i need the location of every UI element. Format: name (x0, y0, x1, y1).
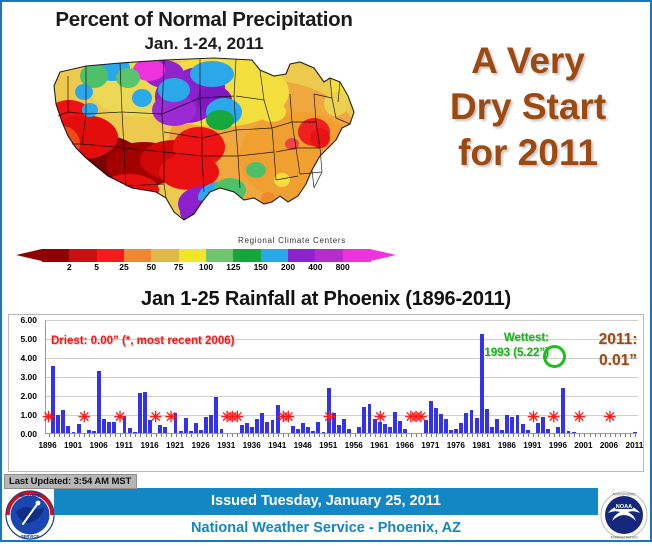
colorbar-segment (233, 249, 261, 262)
x-axis-tick (79, 434, 80, 437)
x-axis-tick (498, 434, 499, 437)
x-axis-tick (64, 434, 65, 437)
annotation-current-year: 2011: 0.01” (589, 329, 647, 371)
x-axis-label: 1981 (472, 441, 490, 450)
chart-bar (567, 431, 571, 433)
chart-bar (490, 427, 494, 433)
x-axis-label: 2006 (600, 441, 618, 450)
precipitation-map-panel: Percent of Normal Precipitation Jan. 1-2… (6, 4, 402, 282)
annotation-driest: Driest: 0.00” (*, most recent 2006) (51, 335, 234, 347)
nws-logo-svg: WEATHER SERVICE (4, 488, 56, 542)
nws-logo: WEATHER SERVICE (4, 488, 56, 542)
chart-bar (220, 429, 224, 433)
x-axis-tick (549, 434, 550, 437)
wettest-highlight-circle (543, 345, 566, 368)
chart-bar (179, 431, 183, 433)
chart-bar (342, 419, 346, 433)
svg-text:NOAA: NOAA (616, 504, 632, 510)
x-axis-tick (436, 434, 437, 437)
noaa-logo-svg: NOAA ATMOSPHERIC ADMINISTRATION (598, 488, 650, 542)
x-axis-tick (564, 434, 565, 437)
chart-bar (561, 388, 565, 433)
chart-bar (541, 417, 545, 433)
colorbar-segment (42, 249, 70, 262)
annotation-wettest-line2: 1993 (5.22”) (437, 346, 549, 361)
x-axis-label: 1896 (38, 441, 56, 450)
x-axis-tick (74, 434, 75, 437)
x-axis-label: 1936 (243, 441, 261, 450)
chart-bar (403, 429, 407, 433)
colorbar-right-tip (370, 249, 396, 261)
x-axis-tick (176, 434, 177, 437)
chart-bar (485, 409, 489, 433)
colorbar-left-tip (16, 249, 42, 261)
y-axis-label: 6.00 (3, 315, 37, 325)
colorbar-segment (124, 249, 152, 262)
x-axis-tick (237, 434, 238, 437)
footer: WEATHER SERVICE Issued Tuesday, January … (2, 488, 650, 542)
x-axis-tick (314, 434, 315, 437)
x-axis-tick (406, 434, 407, 437)
x-axis-tick (493, 434, 494, 437)
chart-bar (572, 432, 576, 433)
chart-bar (291, 426, 295, 433)
x-axis-tick (125, 434, 126, 437)
chart-bar (265, 422, 269, 433)
y-axis-label: 1.00 (3, 410, 37, 420)
x-axis-tick (390, 434, 391, 437)
x-axis-tick (579, 434, 580, 437)
driest-year-marker: ✳ (231, 410, 244, 425)
x-axis-tick (462, 434, 463, 437)
chart-bar (393, 412, 397, 433)
chart-bar (133, 432, 137, 433)
x-axis-tick (222, 434, 223, 437)
chart-bar (556, 427, 560, 433)
chart-bar (296, 429, 300, 433)
x-axis-tick (401, 434, 402, 437)
chart-bar (398, 421, 402, 433)
driest-year-marker: ✳ (374, 410, 387, 425)
x-axis-tick (574, 434, 575, 437)
chart-bar (163, 427, 167, 433)
top-section: Percent of Normal Precipitation Jan. 1-2… (2, 2, 650, 284)
x-axis-tick (105, 434, 106, 437)
colorbar-segment (151, 249, 179, 262)
colorbar-tick: 50 (147, 262, 156, 272)
x-axis-tick (161, 434, 162, 437)
chart-bar (301, 423, 305, 433)
colorbar-segment (288, 249, 316, 262)
chart-bar (337, 425, 341, 433)
chart-bar (56, 415, 60, 433)
x-axis-tick (69, 434, 70, 437)
x-axis-tick (324, 434, 325, 437)
x-axis-label: 1976 (447, 441, 465, 450)
colorbar-tick: 800 (336, 262, 350, 272)
driest-year-marker: ✳ (573, 410, 586, 425)
x-axis-tick (191, 434, 192, 437)
driest-year-marker: ✳ (415, 410, 428, 425)
x-axis-tick (431, 434, 432, 437)
chart-bar (357, 427, 361, 433)
chart-bar (311, 431, 315, 433)
chart-bar (260, 413, 264, 433)
chart-bar (61, 410, 65, 433)
chart-bar (204, 417, 208, 433)
x-axis-tick (227, 434, 228, 437)
chart-bar (143, 392, 147, 433)
x-axis-label: 1966 (396, 441, 414, 450)
y-axis-label: 5.00 (3, 334, 37, 344)
chart-bar (475, 418, 479, 433)
x-axis-tick (253, 434, 254, 437)
x-axis-tick (421, 434, 422, 437)
x-axis-label: 1996 (549, 441, 567, 450)
colorbar-tick-labels: 25255075100125150200400800 (16, 262, 396, 276)
x-axis-tick (375, 434, 376, 437)
colorbar-tick: 25 (119, 262, 128, 272)
chart-bar (439, 414, 443, 433)
chart-bar (495, 419, 499, 433)
chart-bar (240, 425, 244, 433)
map-colorbar: Regional Climate Centers 252550751001251… (16, 236, 396, 278)
chart-bar (500, 430, 504, 433)
x-axis-tick (120, 434, 121, 437)
x-axis-tick (181, 434, 182, 437)
map-subtitle: Jan. 1-24, 2011 (6, 34, 402, 54)
x-axis-tick (268, 434, 269, 437)
chart-bar (209, 415, 213, 433)
x-axis-tick (100, 434, 101, 437)
x-axis-label: 1901 (64, 441, 82, 450)
x-axis-tick (467, 434, 468, 437)
colorbar-tick: 400 (308, 262, 322, 272)
colorbar-segment (261, 249, 289, 262)
x-axis-tick (523, 434, 524, 437)
x-axis-tick (186, 434, 187, 437)
colorbar-segment (97, 249, 125, 262)
x-axis-tick (94, 434, 95, 437)
x-axis-tick (89, 434, 90, 437)
chart-bar (102, 419, 106, 433)
x-axis-tick (130, 434, 131, 437)
x-axis-tick (595, 434, 596, 437)
chart-bar (368, 404, 372, 433)
driest-year-marker: ✳ (114, 410, 127, 425)
colorbar-tick: 200 (281, 262, 295, 272)
annotation-current-value: 0.01” (589, 350, 647, 371)
x-axis-tick (294, 434, 295, 437)
chart-bar (245, 423, 249, 433)
chart-bar (199, 430, 203, 433)
x-axis-tick (360, 434, 361, 437)
colorbar-tick: 125 (226, 262, 240, 272)
x-axis-tick (620, 434, 621, 437)
chart-bar (429, 401, 433, 433)
chart-gridline (46, 320, 638, 321)
colorbar-segment (343, 249, 371, 262)
x-axis-label: 2001 (574, 441, 592, 450)
x-axis-tick (207, 434, 208, 437)
x-axis-tick (452, 434, 453, 437)
colorbar-tick: 2 (67, 262, 72, 272)
chart-bar (250, 427, 254, 433)
x-axis-tick (242, 434, 243, 437)
driest-year-marker: ✳ (527, 410, 540, 425)
y-axis-label: 4.00 (3, 353, 37, 363)
x-axis-tick (416, 434, 417, 437)
map-title: Percent of Normal Precipitation (6, 8, 402, 32)
chart-bar (459, 423, 463, 433)
x-axis-tick (385, 434, 386, 437)
x-axis-tick (584, 434, 585, 437)
chart-bar (138, 393, 142, 433)
x-axis-tick (166, 434, 167, 437)
chart-bar (526, 430, 530, 433)
x-axis-tick (615, 434, 616, 437)
x-axis-tick (518, 434, 519, 437)
driest-year-marker: ✳ (42, 410, 55, 425)
y-axis-label: 3.00 (3, 372, 37, 382)
x-axis-tick (477, 434, 478, 437)
colorbar-segment (179, 249, 207, 262)
x-axis-tick (544, 434, 545, 437)
x-axis-tick (232, 434, 233, 437)
chart-bar (72, 432, 76, 433)
us-map-svg (24, 52, 384, 230)
chart-bar (347, 429, 351, 433)
x-axis-tick (304, 434, 305, 437)
x-axis-tick (202, 434, 203, 437)
x-axis-label: 1961 (370, 441, 388, 450)
x-axis-tick (140, 434, 141, 437)
chart-bar (470, 410, 474, 433)
x-axis-tick (345, 434, 346, 437)
colorbar-segment (206, 249, 234, 262)
chart-bar (434, 408, 438, 433)
x-axis-tick (273, 434, 274, 437)
x-axis-tick (503, 434, 504, 437)
headline-line-1: A Very (406, 38, 650, 84)
driest-year-marker: ✳ (323, 410, 336, 425)
chart-bar (633, 432, 637, 433)
x-axis-tick (365, 434, 366, 437)
x-axis-tick (442, 434, 443, 437)
x-axis-tick (457, 434, 458, 437)
x-axis-tick (569, 434, 570, 437)
colorbar-tick: 5 (94, 262, 99, 272)
chart-bar (388, 427, 392, 433)
chart-bar (322, 432, 326, 433)
chart-gridline (46, 396, 638, 397)
x-axis-tick (288, 434, 289, 437)
x-axis-tick (54, 434, 55, 437)
chart-title: Jan 1-25 Rainfall at Phoenix (1896-2011) (2, 288, 650, 311)
colorbar-tick: 100 (199, 262, 213, 272)
x-axis-tick (135, 434, 136, 437)
chart-bar (87, 430, 91, 433)
footer-office-line: National Weather Service - Phoenix, AZ (54, 516, 598, 541)
x-axis-tick (447, 434, 448, 437)
chart-bar (107, 422, 111, 433)
x-axis-label: 1916 (141, 441, 159, 450)
chart-bar (194, 423, 198, 433)
x-axis-tick (263, 434, 264, 437)
x-axis-label: 1946 (294, 441, 312, 450)
svg-text:WEATHER: WEATHER (19, 493, 42, 498)
chart-bar (158, 425, 162, 433)
x-axis-label: 1951 (319, 441, 337, 450)
x-axis-tick (538, 434, 539, 437)
chart-gridline (46, 377, 638, 378)
noaa-logo: NOAA ATMOSPHERIC ADMINISTRATION (598, 488, 650, 542)
x-axis-tick (84, 434, 85, 437)
x-axis-tick (309, 434, 310, 437)
x-axis-tick (350, 434, 351, 437)
x-axis-tick (396, 434, 397, 437)
x-axis-tick (554, 434, 555, 437)
x-axis-tick (258, 434, 259, 437)
x-axis-tick (533, 434, 534, 437)
x-axis-tick (370, 434, 371, 437)
x-axis-tick (329, 434, 330, 437)
chart-bar (454, 429, 458, 433)
driest-year-marker: ✳ (165, 410, 178, 425)
chart-bar (516, 415, 520, 433)
colorbar-tick: 75 (174, 262, 183, 272)
x-axis-tick (600, 434, 601, 437)
chart-bar (510, 417, 514, 433)
x-axis-label: 1911 (115, 441, 133, 450)
x-axis-tick (49, 434, 50, 437)
x-axis-label: 1921 (166, 441, 184, 450)
x-axis-label: 1991 (523, 441, 541, 450)
x-axis-tick (59, 434, 60, 437)
chart-bar (505, 415, 509, 433)
colorbar-segment (315, 249, 343, 262)
x-axis-tick (610, 434, 611, 437)
x-axis-tick (278, 434, 279, 437)
x-axis-tick (283, 434, 284, 437)
x-axis-tick (146, 434, 147, 437)
chart-bar (316, 422, 320, 433)
chart-bar (92, 431, 96, 433)
x-axis-tick (197, 434, 198, 437)
chart-bar (66, 426, 70, 433)
x-axis-tick (299, 434, 300, 437)
chart-bar (306, 427, 310, 433)
x-axis-label: 2011 (626, 441, 644, 450)
x-axis-tick (248, 434, 249, 437)
x-axis-tick (528, 434, 529, 437)
driest-year-marker: ✳ (604, 410, 617, 425)
colorbar-segment (69, 249, 97, 262)
chart-bar (97, 371, 101, 433)
x-axis-tick (339, 434, 340, 437)
x-axis-tick (625, 434, 626, 437)
x-axis-tick (151, 434, 152, 437)
last-updated-badge: Last Updated: 3:54 AM MST (4, 474, 137, 489)
x-axis-label: 1906 (89, 441, 107, 450)
map-credit: Regional Climate Centers (238, 236, 346, 245)
x-axis-tick (156, 434, 157, 437)
driest-year-marker: ✳ (78, 410, 91, 425)
chart-bar (214, 397, 218, 433)
x-axis-tick (630, 434, 631, 437)
x-axis-label: 1971 (421, 441, 439, 450)
chart-bar (189, 431, 193, 433)
x-axis-tick (355, 434, 356, 437)
x-axis-label: 1941 (268, 441, 286, 450)
x-axis-tick (217, 434, 218, 437)
chart-bar (444, 419, 448, 433)
x-axis-tick (171, 434, 172, 437)
annotation-current-label: 2011: (589, 329, 647, 350)
x-axis-tick (472, 434, 473, 437)
footer-issued-line: Issued Tuesday, January 25, 2011 (54, 488, 598, 515)
x-axis-tick (482, 434, 483, 437)
x-axis-tick (635, 434, 636, 437)
x-axis-tick (380, 434, 381, 437)
x-axis-tick (559, 434, 560, 437)
x-axis-label: 1986 (498, 441, 516, 450)
x-axis-tick (319, 434, 320, 437)
infographic-page: Percent of Normal Precipitation Jan. 1-2… (0, 0, 652, 542)
svg-text:ATMOSPHERIC: ATMOSPHERIC (612, 493, 636, 497)
us-precipitation-map (24, 52, 384, 230)
x-axis-tick (487, 434, 488, 437)
x-axis-tick (411, 434, 412, 437)
headline-line-2: Dry Start (406, 84, 650, 130)
chart-bar (449, 430, 453, 433)
x-axis-tick (605, 434, 606, 437)
driest-year-marker: ✳ (547, 410, 560, 425)
annotation-wettest-line1: Wettest: (437, 331, 549, 346)
x-axis-tick (110, 434, 111, 437)
x-axis-label: 1926 (192, 441, 210, 450)
driest-year-marker: ✳ (149, 410, 162, 425)
colorbar-tick: 150 (254, 262, 268, 272)
chart-bar (184, 418, 188, 433)
colorbar-gradient (16, 249, 396, 262)
x-axis-tick (426, 434, 427, 437)
x-axis-label: 1956 (345, 441, 363, 450)
chart-bar (255, 419, 259, 433)
svg-text:ADMINISTRATION: ADMINISTRATION (610, 536, 638, 540)
svg-text:SERVICE: SERVICE (21, 534, 40, 539)
chart-bar (362, 407, 366, 433)
chart-bar (521, 424, 525, 433)
y-axis-label: 2.00 (3, 391, 37, 401)
chart-bar (128, 428, 132, 433)
x-axis-tick (590, 434, 591, 437)
x-axis-tick (513, 434, 514, 437)
annotation-wettest: Wettest: 1993 (5.22”) (437, 331, 549, 361)
chart-bar (464, 413, 468, 433)
headline-line-3: for 2011 (406, 130, 650, 176)
x-axis-tick (334, 434, 335, 437)
x-axis-tick (212, 434, 213, 437)
driest-year-marker: ✳ (282, 410, 295, 425)
chart-bar (546, 429, 550, 433)
x-axis-label: 1931 (217, 441, 235, 450)
x-axis-tick (115, 434, 116, 437)
rainfall-chart: 0.001.002.003.004.005.006.00✳✳✳✳✳✳✳✳✳✳✳✳… (8, 314, 644, 472)
headline-block: A Very Dry Start for 2011 (406, 38, 650, 176)
x-axis-tick (508, 434, 509, 437)
chart-bar (271, 420, 275, 433)
